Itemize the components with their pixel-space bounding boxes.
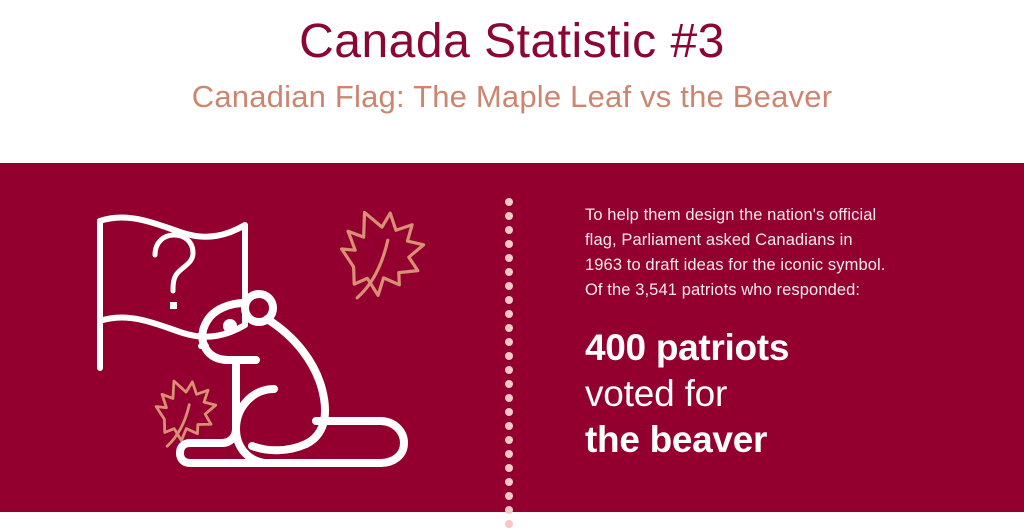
statistic-line-1: 400 patriots [585, 325, 925, 371]
text-column: To help them design the nation's officia… [585, 203, 925, 463]
divider-dot [505, 282, 513, 290]
divider-dot [505, 506, 513, 514]
divider-dot [505, 324, 513, 332]
main-panel: To help them design the nation's officia… [0, 163, 1024, 512]
divider-dot [505, 436, 513, 444]
divider-dot [505, 464, 513, 472]
divider-dot [505, 352, 513, 360]
page-subtitle: Canadian Flag: The Maple Leaf vs the Bea… [192, 79, 832, 115]
divider-dot [505, 240, 513, 248]
paragraph-line-3: 1963 to draft ideas for the iconic symbo… [585, 253, 925, 278]
paragraph-line-2: flag, Parliament asked Canadians in [585, 228, 925, 253]
divider-dot [505, 212, 513, 220]
divider-dot [505, 492, 513, 500]
divider-dot [505, 520, 513, 528]
beaver-back [267, 319, 325, 444]
paragraph-line-4: Of the 3,541 patriots who responded: [585, 278, 925, 303]
divider-dot [505, 310, 513, 318]
dotted-vertical-divider [505, 198, 515, 485]
divider-dot [505, 394, 513, 402]
description-paragraph: To help them design the nation's officia… [585, 203, 925, 303]
divider-dot [505, 338, 513, 346]
header-band: Canada Statistic #3 Canadian Flag: The M… [0, 0, 1024, 163]
divider-dot [505, 366, 513, 374]
maple-leaf-small-icon [152, 375, 221, 447]
statistic-block: 400 patriots voted for the beaver [585, 325, 925, 463]
statistic-line-3: the beaver [585, 417, 925, 463]
divider-dot [505, 198, 513, 206]
maple-leaf-large-icon [335, 202, 432, 301]
divider-dot [505, 254, 513, 262]
divider-dot [505, 296, 513, 304]
flag-icon [100, 218, 245, 368]
divider-dot [505, 450, 513, 458]
divider-dot [505, 380, 513, 388]
divider-dot [505, 408, 513, 416]
beaver-rump [252, 444, 306, 450]
beaver-eye [223, 319, 237, 333]
illustration-group [60, 163, 500, 512]
question-mark-icon [155, 235, 193, 309]
divider-dot [505, 226, 513, 234]
divider-dot [505, 268, 513, 276]
illustration-svg [60, 163, 500, 512]
page-title: Canada Statistic #3 [299, 16, 725, 69]
paragraph-line-1: To help them design the nation's officia… [585, 203, 925, 228]
beaver-icon [180, 294, 404, 463]
divider-dot [505, 478, 513, 486]
statistic-line-2: voted for [585, 371, 925, 417]
infographic-canvas: Canada Statistic #3 Canadian Flag: The M… [0, 0, 1024, 512]
divider-dot [505, 422, 513, 430]
